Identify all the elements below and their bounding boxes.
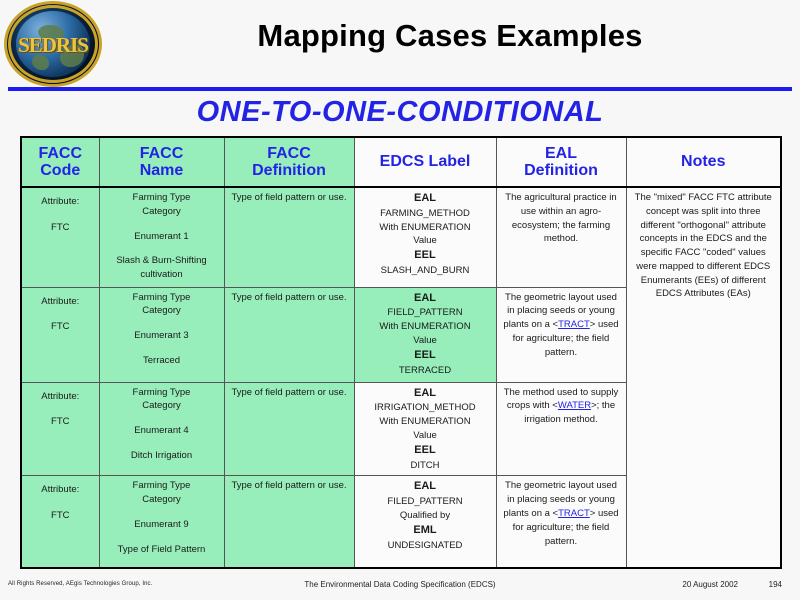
header-line-2: Definition <box>252 162 326 179</box>
table-row: Attribute: FTC Farming Type Category Enu… <box>21 187 781 287</box>
facc-name-line: Category <box>104 205 220 219</box>
facc-enumerant-value: Type of Field Pattern <box>104 543 220 557</box>
facc-enumerant-value: Ditch Irrigation <box>104 449 220 463</box>
facc-name-line: Farming Type <box>104 386 220 400</box>
facc-code-label: Attribute: <box>26 483 95 497</box>
cell-eal-definition: The geometric layout used in placing see… <box>496 476 626 568</box>
edcs-qualifier: Qualified by <box>359 509 492 523</box>
facc-enumerant: Enumerant 1 <box>104 230 220 244</box>
edcs-qualifier-2: Value <box>359 334 492 348</box>
cell-facc-name: Farming Type Category Enumerant 1 Slash … <box>99 187 224 287</box>
facc-code-value: FTC <box>26 320 95 334</box>
facc-code-label: Attribute: <box>26 195 95 209</box>
facc-enumerant: Enumerant 3 <box>104 329 220 343</box>
footer-document-title: The Environmental Data Coding Specificat… <box>0 580 800 589</box>
header-line-1: FACC <box>38 145 82 162</box>
facc-enumerant-value: Slash & Burn-Shifting <box>104 254 220 268</box>
cell-edcs-label: EAL FIELD_PATTERN With ENUMERATION Value… <box>354 287 496 382</box>
edcs-label: FARMING_METHOD <box>359 207 492 221</box>
edcs-qualifier: With ENUMERATION <box>359 320 492 334</box>
column-header-eal-definition[interactable]: EAL Definition <box>496 137 626 187</box>
cell-notes: The "mixed" FACC FTC attribute concept w… <box>626 187 781 568</box>
eal-definition-text: The agricultural practice in use within … <box>505 192 616 244</box>
edcs-qualifier-2: Value <box>359 429 492 443</box>
edcs-kind-2: EEL <box>359 248 492 264</box>
edcs-kind-2: EEL <box>359 348 492 364</box>
header-line-2: Definition <box>524 162 598 179</box>
header-line-1: Notes <box>681 153 725 170</box>
edcs-kind: EAL <box>359 191 492 207</box>
cell-facc-definition: Type of field pattern or use. <box>224 476 354 568</box>
edcs-kind: EAL <box>359 386 492 402</box>
cell-eal-definition: The agricultural practice in use within … <box>496 187 626 287</box>
cell-edcs-label: EAL IRRIGATION_METHOD With ENUMERATION V… <box>354 382 496 476</box>
edcs-kind: EAL <box>359 291 492 307</box>
facc-name-line: Farming Type <box>104 191 220 205</box>
facc-name-line: Farming Type <box>104 291 220 305</box>
edcs-kind-2: EML <box>359 523 492 539</box>
facc-name-line: Category <box>104 304 220 318</box>
mapping-table: FACC Code FACC Name FACC Definition EDCS… <box>20 136 782 569</box>
facc-code-value: FTC <box>26 221 95 235</box>
edcs-qualifier: With ENUMERATION <box>359 415 492 429</box>
page-title: Mapping Cases Examples <box>130 18 770 54</box>
edcs-kind: EAL <box>359 479 492 495</box>
cell-eal-definition: The method used to supply crops with <WA… <box>496 382 626 476</box>
footer-date: 20 August 2002 <box>682 580 738 589</box>
eal-xref-link[interactable]: TRACT <box>558 319 590 330</box>
eal-xref-link[interactable]: WATER <box>558 400 591 411</box>
facc-code-label: Attribute: <box>26 295 95 309</box>
cell-edcs-label: EAL FARMING_METHOD With ENUMERATION Valu… <box>354 187 496 287</box>
edcs-qualifier: With ENUMERATION <box>359 221 492 235</box>
edcs-label: FILED_PATTERN <box>359 495 492 509</box>
edcs-label-2: SLASH_AND_BURN <box>359 264 492 278</box>
column-header-notes[interactable]: Notes <box>626 137 781 187</box>
cell-facc-definition: Type of field pattern or use. <box>224 287 354 382</box>
cell-facc-code: Attribute: FTC <box>21 476 99 568</box>
logo-wordmark: SEDRIS <box>7 33 99 58</box>
cell-facc-code: Attribute: FTC <box>21 382 99 476</box>
header-line-2: Code <box>40 162 80 179</box>
facc-code-value: FTC <box>26 509 95 523</box>
cell-facc-definition: Type of field pattern or use. <box>224 187 354 287</box>
cell-facc-code: Attribute: FTC <box>21 187 99 287</box>
eal-xref-link[interactable]: TRACT <box>558 508 590 519</box>
column-header-facc-definition[interactable]: FACC Definition <box>224 137 354 187</box>
facc-enumerant: Enumerant 4 <box>104 424 220 438</box>
header-line-1: EAL <box>545 145 577 162</box>
cell-facc-name: Farming Type Category Enumerant 3 Terrac… <box>99 287 224 382</box>
slide-header: SEDRIS Mapping Cases Examples <box>0 0 800 86</box>
facc-code-value: FTC <box>26 415 95 429</box>
facc-enumerant-value-cont: cultivation <box>104 268 220 282</box>
edcs-kind-2: EEL <box>359 443 492 459</box>
cell-facc-name: Farming Type Category Enumerant 9 Type o… <box>99 476 224 568</box>
edcs-label: IRRIGATION_METHOD <box>359 401 492 415</box>
slide-footer: All Rights Reserved, AEgis Technologies … <box>0 580 800 594</box>
cell-facc-name: Farming Type Category Enumerant 4 Ditch … <box>99 382 224 476</box>
title-divider <box>8 87 792 91</box>
cell-eal-definition: The geometric layout used in placing see… <box>496 287 626 382</box>
column-header-facc-name[interactable]: FACC Name <box>99 137 224 187</box>
facc-name-line: Category <box>104 493 220 507</box>
footer-page-number: 194 <box>769 580 782 589</box>
facc-code-label: Attribute: <box>26 390 95 404</box>
edcs-label-2: DITCH <box>359 459 492 473</box>
edcs-label-2: UNDESIGNATED <box>359 539 492 553</box>
header-line-1: EDCS Label <box>380 153 471 170</box>
cell-edcs-label: EAL FILED_PATTERN Qualified by EML UNDES… <box>354 476 496 568</box>
facc-enumerant: Enumerant 9 <box>104 518 220 532</box>
facc-enumerant-value: Terraced <box>104 354 220 368</box>
column-header-edcs-label[interactable]: EDCS Label <box>354 137 496 187</box>
cell-facc-code: Attribute: FTC <box>21 287 99 382</box>
column-header-facc-code[interactable]: FACC Code <box>21 137 99 187</box>
table-header-row: FACC Code FACC Name FACC Definition EDCS… <box>21 137 781 187</box>
facc-name-line: Category <box>104 399 220 413</box>
edcs-qualifier-2: Value <box>359 234 492 248</box>
sedris-logo: SEDRIS <box>7 4 99 84</box>
facc-name-line: Farming Type <box>104 479 220 493</box>
cell-facc-definition: Type of field pattern or use. <box>224 382 354 476</box>
header-line-1: FACC <box>267 145 311 162</box>
header-line-1: FACC <box>140 145 184 162</box>
edcs-label: FIELD_PATTERN <box>359 306 492 320</box>
edcs-label-2: TERRACED <box>359 364 492 378</box>
header-line-2: Name <box>140 162 184 179</box>
slide-subtitle: ONE-TO-ONE-CONDITIONAL <box>0 96 800 129</box>
